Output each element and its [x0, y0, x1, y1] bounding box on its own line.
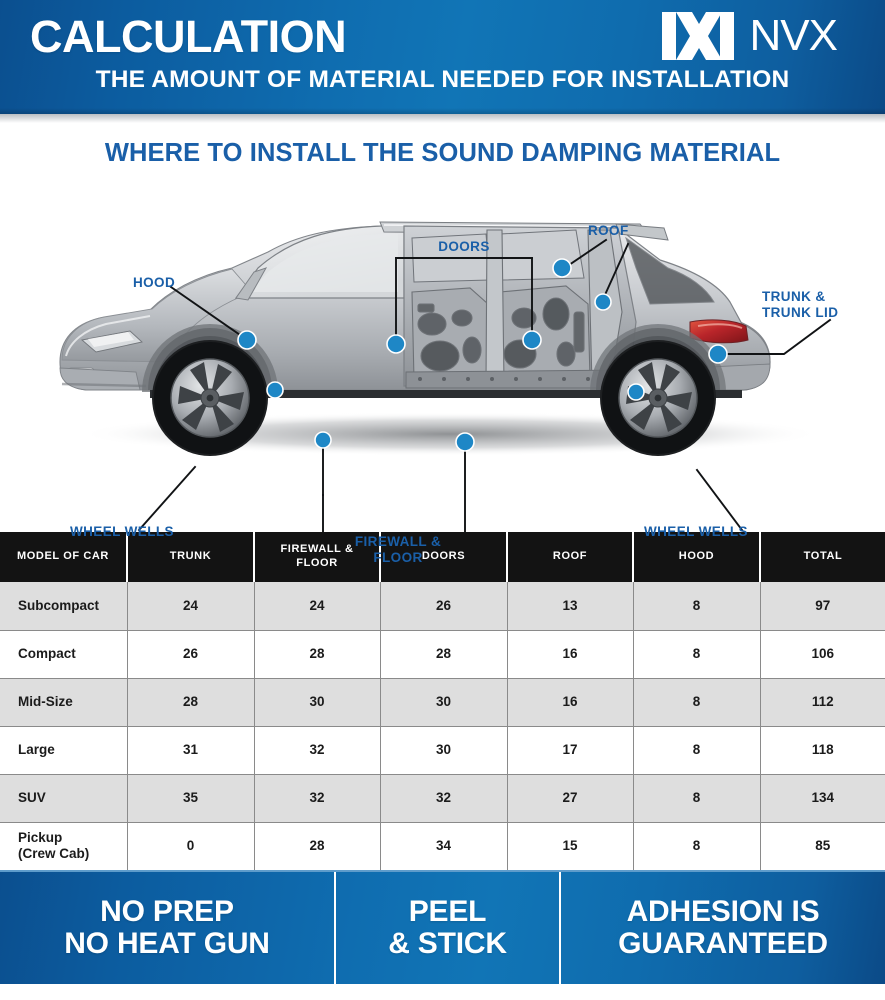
brand-name: NVX: [750, 14, 837, 58]
cell-hood: 8: [633, 726, 760, 774]
cell-trunk: 0: [127, 822, 254, 870]
marker-firewall: [315, 432, 331, 448]
cell-model: Mid-Size: [0, 678, 127, 726]
callout-label-trunk-line1: TRUNK &: [762, 289, 838, 305]
cell-model: Large: [0, 726, 127, 774]
marker-front-door: [387, 335, 405, 353]
cell-total: 112: [760, 678, 885, 726]
cell-model-line1: Pickup: [18, 830, 127, 846]
cell-doors: 28: [380, 630, 507, 678]
marker-floor: [456, 433, 474, 451]
footer-no-prep-line2: NO HEAT GUN: [64, 928, 270, 960]
cell-roof: 27: [507, 774, 633, 822]
cell-doors: 34: [380, 822, 507, 870]
cell-trunk: 35: [127, 774, 254, 822]
marker-rear-door: [523, 331, 541, 349]
callout-label-firewall-line1: FIREWALL &: [330, 534, 466, 550]
cell-trunk: 24: [127, 582, 254, 630]
callout-label-firewall-line2: FLOOR: [330, 550, 466, 566]
cell-total: 85: [760, 822, 885, 870]
callout-label-trunk-line2: TRUNK LID: [762, 305, 838, 321]
cell-roof: 17: [507, 726, 633, 774]
footer-panel-peel: PEEL & STICK: [336, 872, 561, 984]
cell-total: 106: [760, 630, 885, 678]
cell-roof: 16: [507, 678, 633, 726]
header-top-row: CALCULATION NVX: [0, 0, 885, 60]
column-header-total: TOTAL: [760, 532, 885, 582]
footer-banner: NO PREP NO HEAT GUN PEEL & STICK ADHESIO…: [0, 870, 885, 984]
cell-firewall: 32: [254, 774, 380, 822]
cell-doors: 32: [380, 774, 507, 822]
cell-firewall: 32: [254, 726, 380, 774]
cell-total: 134: [760, 774, 885, 822]
footer-panel-adhesion: ADHESION IS GUARANTEED: [561, 872, 885, 984]
cell-hood: 8: [633, 630, 760, 678]
table-row: Compact 26 28 28 16 8 106: [0, 630, 885, 678]
callout-label-roof: ROOF: [588, 223, 629, 239]
callout-label-hood: HOOD: [133, 275, 175, 291]
footer-peel-line1: PEEL: [388, 896, 507, 928]
cell-roof: 13: [507, 582, 633, 630]
cell-roof: 15: [507, 822, 633, 870]
nvx-x-logo-icon: [662, 12, 748, 60]
cell-firewall: 24: [254, 582, 380, 630]
cell-model: Pickup (Crew Cab): [0, 822, 127, 870]
callout-label-doors: DOORS: [400, 239, 528, 255]
material-calculation-table: MODEL OF CAR TRUNK FIREWALL & FLOOR DOOR…: [0, 532, 885, 870]
callout-label-wheel-wells-rear: WHEEL WELLS: [644, 524, 748, 540]
rear-wheel: [600, 340, 716, 456]
header-subtitle: THE AMOUNT OF MATERIAL NEEDED FOR INSTAL…: [0, 66, 885, 94]
cell-firewall: 28: [254, 822, 380, 870]
cell-total: 118: [760, 726, 885, 774]
car-illustration: [0, 172, 885, 532]
callout-label-trunk: TRUNK & TRUNK LID: [762, 289, 838, 320]
cell-hood: 8: [633, 582, 760, 630]
cell-model: Compact: [0, 630, 127, 678]
cell-roof: 16: [507, 630, 633, 678]
table-row: Subcompact 24 24 26 13 8 97: [0, 582, 885, 630]
cell-model: SUV: [0, 774, 127, 822]
front-wheel: [152, 340, 268, 456]
header-dropshadow: [0, 114, 885, 123]
marker-roof-rear: [595, 294, 611, 310]
cell-trunk: 26: [127, 630, 254, 678]
footer-panel-no-prep: NO PREP NO HEAT GUN: [0, 872, 336, 984]
table-row: Mid-Size 28 30 30 16 8 112: [0, 678, 885, 726]
infographic-page: CALCULATION NVX THE AMOUNT OF MATERIAL N…: [0, 0, 885, 1000]
callout-label-firewall-floor: FIREWALL & FLOOR: [330, 534, 466, 565]
table-row: SUV 35 32 32 27 8 134: [0, 774, 885, 822]
cell-hood: 8: [633, 774, 760, 822]
cell-total: 97: [760, 582, 885, 630]
page-title: CALCULATION: [30, 14, 346, 59]
marker-trunk: [709, 345, 727, 363]
section-title: WHERE TO INSTALL THE SOUND DAMPING MATER…: [0, 139, 885, 168]
header-banner: CALCULATION NVX THE AMOUNT OF MATERIAL N…: [0, 0, 885, 114]
callout-label-wheel-wells-front: WHEEL WELLS: [70, 524, 174, 540]
table-row: Large 31 32 30 17 8 118: [0, 726, 885, 774]
marker-rear-wheel-well: [628, 384, 644, 400]
cell-hood: 8: [633, 822, 760, 870]
footer-adhesion-line2: GUARANTEED: [618, 928, 828, 960]
table-row: Pickup (Crew Cab) 0 28 34 15 8 85: [0, 822, 885, 870]
cell-firewall: 28: [254, 630, 380, 678]
footer-peel-line2: & STICK: [388, 928, 507, 960]
column-header-roof: ROOF: [507, 532, 633, 582]
footer-no-prep-line1: NO PREP: [64, 896, 270, 928]
cell-doors: 30: [380, 726, 507, 774]
marker-hood: [238, 331, 256, 349]
cell-hood: 8: [633, 678, 760, 726]
cell-firewall: 30: [254, 678, 380, 726]
cell-model: Subcompact: [0, 582, 127, 630]
cell-trunk: 31: [127, 726, 254, 774]
car-diagram: HOOD DOORS ROOF TRUNK & TRUNK LID WHEEL …: [0, 172, 885, 532]
brand-logo: NVX: [662, 12, 855, 60]
footer-adhesion-line1: ADHESION IS: [618, 896, 828, 928]
cell-doors: 26: [380, 582, 507, 630]
material-table-wrap: MODEL OF CAR TRUNK FIREWALL & FLOOR DOOR…: [0, 532, 885, 870]
marker-roof-front: [553, 259, 571, 277]
cell-trunk: 28: [127, 678, 254, 726]
cell-doors: 30: [380, 678, 507, 726]
marker-front-wheel-well: [267, 382, 283, 398]
cell-model-line2: (Crew Cab): [18, 846, 127, 862]
